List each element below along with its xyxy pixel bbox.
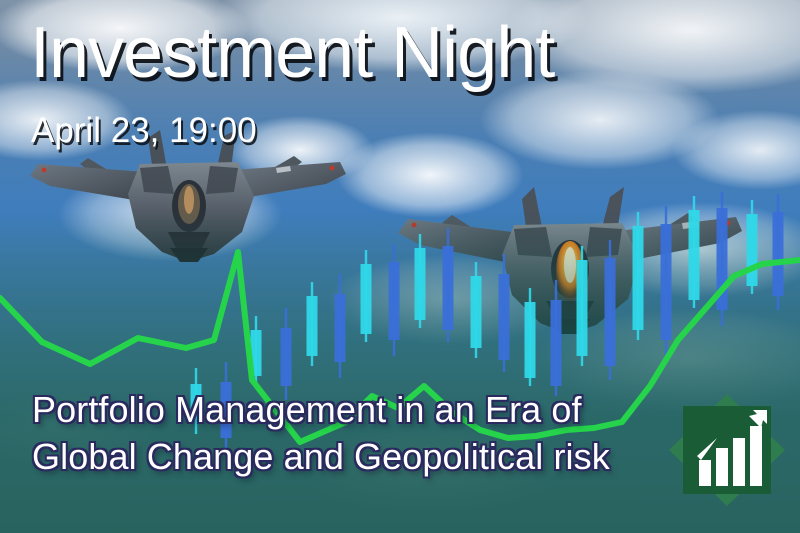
candle-body [605,258,616,366]
candle-body [443,246,454,330]
candle-body [415,248,426,320]
candle-body [335,294,346,362]
candle-body [499,274,510,360]
candle-body [689,210,700,300]
candle-body [471,276,482,348]
poster-title: Investment Night [30,17,554,89]
candle-body [577,260,588,356]
candle-body [361,264,372,334]
candle-body [633,226,644,330]
candle-body [773,212,784,296]
candle-body [747,214,758,286]
candle-body [661,224,672,340]
growth-chart-badge-logo [661,386,793,514]
candle-body [307,296,318,356]
event-poster: Investment Night April 23, 19:00 Portfol… [0,0,800,533]
candle-body [389,262,400,340]
candle-body [525,302,536,378]
poster-topic: Portfolio Management in an Era of Global… [32,387,652,481]
candle-body [551,300,562,386]
poster-datetime: April 23, 19:00 [31,113,257,148]
candle-body [281,328,292,386]
